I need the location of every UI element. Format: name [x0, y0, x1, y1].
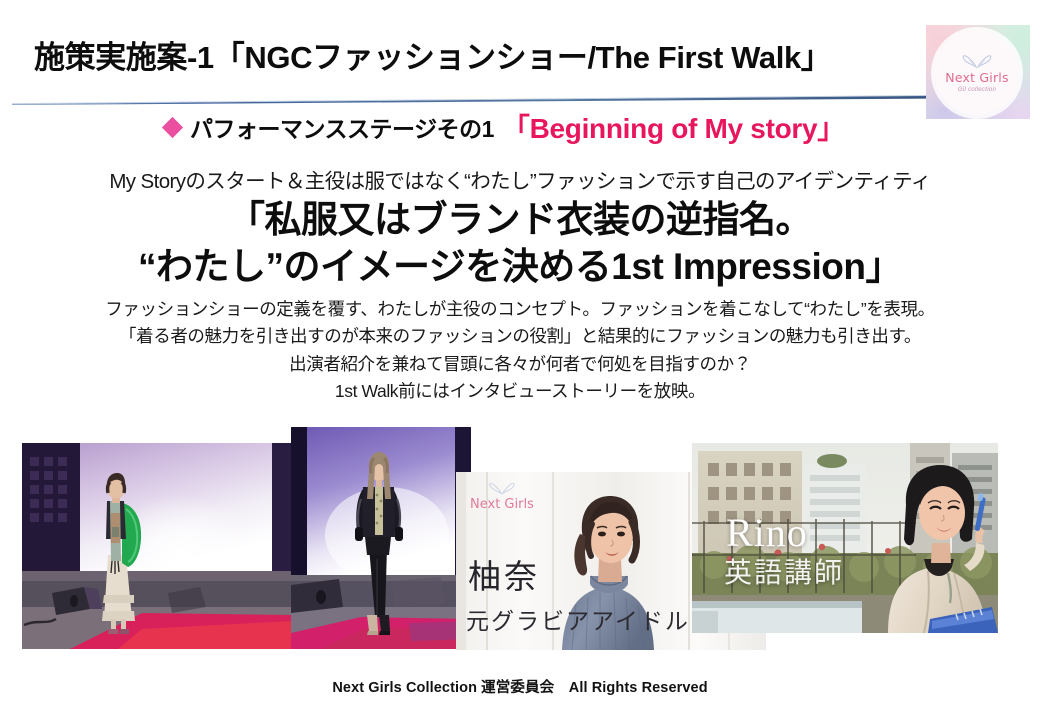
logo-subtitle-text: Gil collection	[958, 87, 996, 93]
slide-canvas: 施策実施案-1「NGCファッションショー/The First Walk」	[0, 0, 1040, 720]
body-line-4: 1st Walk前にはインタビューストーリーを放映。	[0, 378, 1040, 405]
logo-circle: Next Girls Gil collection	[935, 31, 1019, 115]
tagline: My Storyのスタート＆主役は服ではなく“わたし”ファッションで示す自己のア…	[0, 164, 1040, 194]
body-line-2: 「着る者の魅力を引き出すのが本来のファッションの役割」と結果的にファッションの魅…	[0, 323, 1040, 350]
body-copy-block: ファッションショーの定義を覆す、わたしが主役のコンセプト。ファッションを着こなし…	[0, 296, 1040, 405]
angel-wings-icon	[960, 54, 994, 69]
headline-line-2: “わたし”のイメージを決める1st Impression」	[0, 243, 1040, 290]
diamond-bullet-icon	[162, 116, 183, 137]
body-line-1: ファッションショーの定義を覆す、わたしが主役のコンセプト。ファッションを着こなし…	[0, 296, 1040, 323]
headline-block: 「私服又はブランド衣装の逆指名。 “わたし”のイメージを決める1st Impre…	[0, 196, 1040, 291]
brand-logo: Next Girls Gil collection	[926, 25, 1030, 119]
logo-name-text: Next Girls	[945, 70, 1008, 85]
title-divider	[12, 92, 1022, 104]
footer-copyright: Next Girls Collection 運営委員会 All Rights R…	[0, 676, 1040, 697]
subtitle-row: パフォーマンスステージその1 「Beginning of My story」	[0, 107, 1010, 147]
photo-runway-green	[22, 443, 292, 649]
subtitle-japanese: パフォーマンスステージその1	[190, 110, 494, 144]
page-title: 施策実施案-1「NGCファッションショー/The First Walk」	[34, 32, 831, 77]
body-line-3: 出演者紹介を兼ねて冒頭に各々が何者で何処を目指すのか？	[0, 351, 1040, 378]
subtitle-english: 「Beginning of My story」	[502, 107, 845, 147]
photo-runway-black	[291, 427, 471, 649]
headline-line-1: 「私服又はブランド衣装の逆指名。	[0, 196, 1040, 243]
photo-interview-rino: Rino 英語講師	[692, 443, 998, 633]
